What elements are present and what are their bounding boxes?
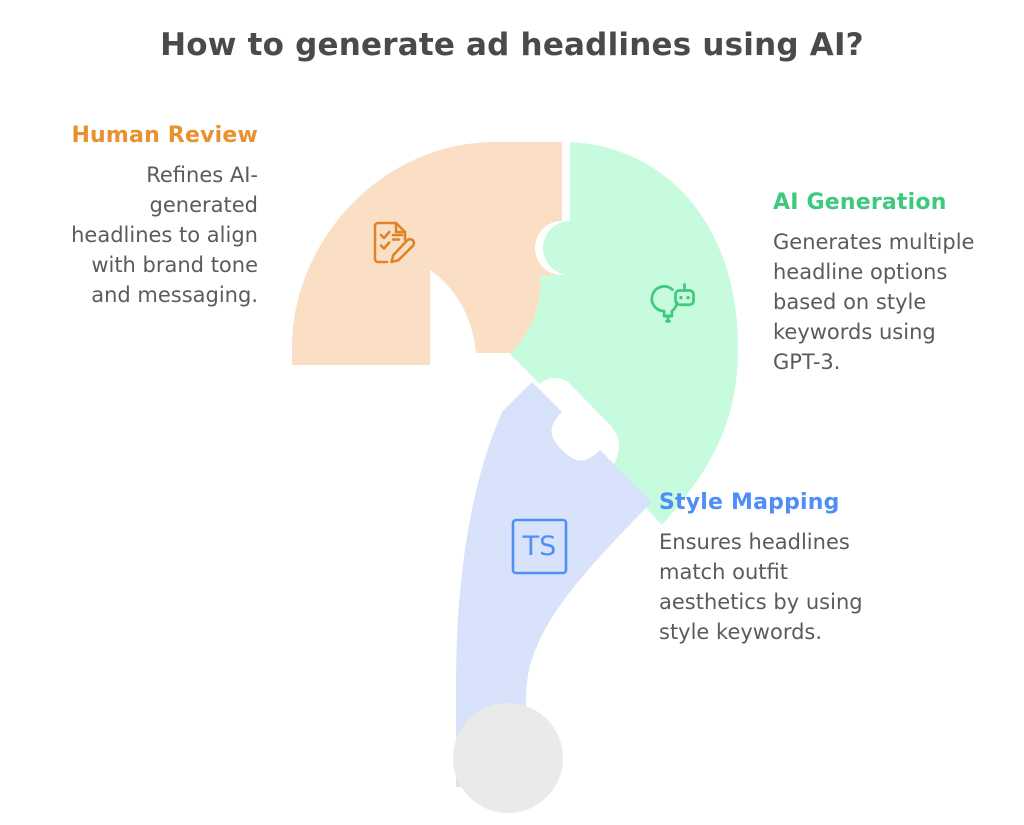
puzzle-piece-human-review	[292, 142, 562, 365]
section-title-ai-generation: AI Generation	[773, 191, 1024, 215]
infographic-canvas: TS Human Review Refines AI- generated he…	[0, 0, 1024, 824]
section-body-human-review: Refines AI- generated headlines to align…	[10, 160, 258, 310]
ts-badge-label: TS	[522, 531, 557, 562]
section-body-ai-generation: Generates multiple headline options base…	[773, 227, 1024, 377]
section-human-review: Human Review Refines AI- generated headl…	[10, 124, 258, 310]
question-mark-puzzle-diagram: TS	[270, 125, 760, 825]
section-title-style-mapping: Style Mapping	[659, 491, 949, 515]
question-mark-dot	[453, 703, 563, 813]
section-title-human-review: Human Review	[10, 124, 258, 148]
section-body-style-mapping: Ensures headlines match outfit aesthetic…	[659, 527, 949, 647]
section-ai-generation: AI Generation Generates multiple headlin…	[773, 191, 1024, 377]
section-style-mapping: Style Mapping Ensures headlines match ou…	[659, 491, 949, 647]
